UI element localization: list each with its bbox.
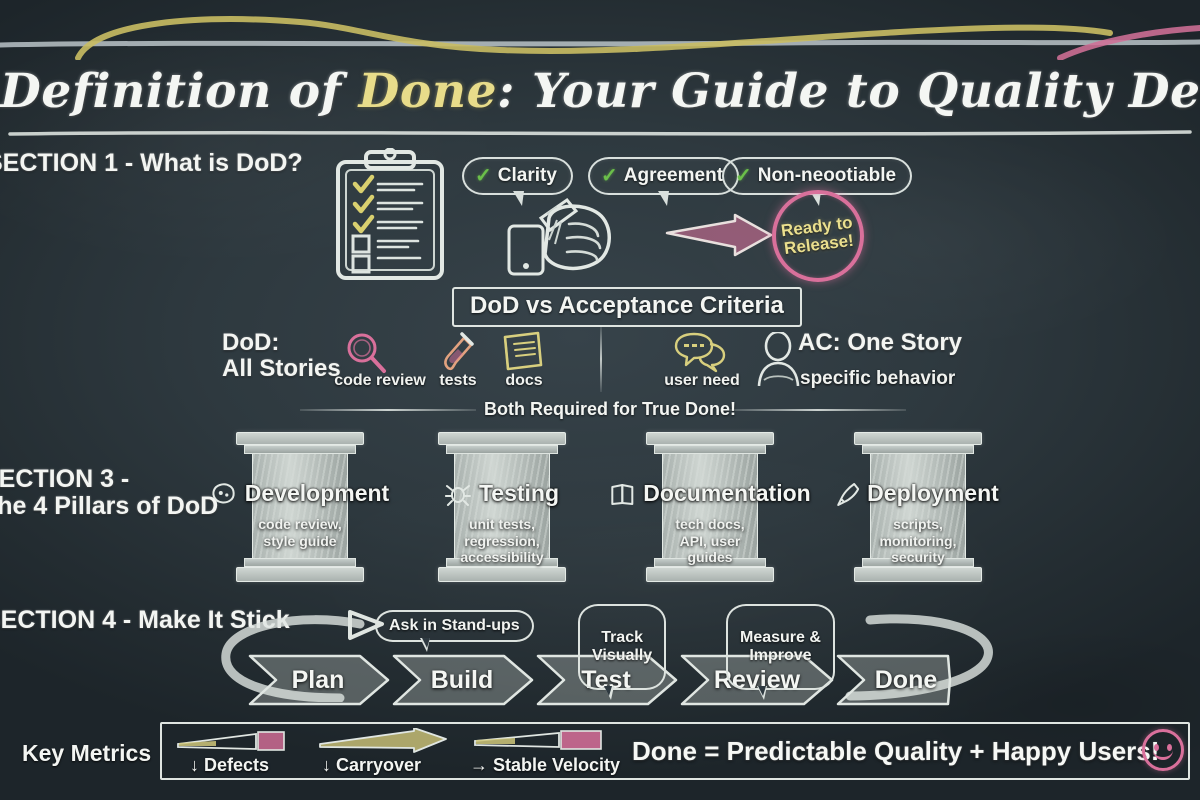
- pillar-development-name-row: Development: [211, 480, 389, 507]
- person-icon: [756, 332, 802, 386]
- test-tube-caption: tests: [428, 372, 488, 390]
- pillar-testing-details: unit tests, regression, accessibility: [450, 516, 554, 566]
- badge-clarity[interactable]: ✓ Clarity: [462, 157, 573, 195]
- metric-defects-label: ↓ Defects: [190, 755, 269, 776]
- pillar-deployment[interactable]: Deployment scripts, monitoring, security: [854, 432, 982, 582]
- pink-right-arrow-icon: [665, 213, 775, 257]
- check-icon: ✓: [601, 163, 618, 188]
- speech-bubbles-icon: [672, 332, 728, 374]
- pillar-cap-bottom: [438, 567, 566, 582]
- badge-agreement-label: Agreement: [624, 165, 723, 187]
- badge-agreement[interactable]: ✓ Agreement: [588, 157, 739, 195]
- ac-specific-behavior-label: specific behavior: [800, 368, 955, 390]
- callout-ask-in-standups-text: Ask in Stand-ups: [389, 617, 520, 634]
- pillar-cap-bottom: [646, 567, 774, 582]
- comparison-divider: [600, 326, 602, 392]
- pillar-cap-bottom: [236, 567, 364, 582]
- arrow-tapered-icon: [318, 728, 448, 754]
- rocket-icon: [837, 482, 859, 506]
- key-metrics-label: Key Metrics: [22, 740, 151, 767]
- page-title: Definition of Done: Your Guide to Qualit…: [0, 64, 1200, 119]
- pillar-cap-top-inner: [446, 445, 558, 454]
- flow-step-plan[interactable]: Plan: [258, 652, 378, 708]
- callout-measure-improve[interactable]: Measure & Improve: [726, 604, 835, 690]
- callout-track-visually[interactable]: Track Visually: [578, 604, 666, 690]
- callout-measure-improve-text: Measure & Improve: [740, 629, 821, 664]
- smiley-face-icon: [1142, 729, 1184, 771]
- bug-icon: [445, 482, 471, 506]
- page-title-wrapper: Definition of Done: Your Guide to Qualit…: [0, 64, 1200, 119]
- badge-non-negotiable-label: Non-neootiable: [758, 165, 896, 187]
- comparison-title: DoD vs Acceptance Criteria: [452, 287, 802, 327]
- book-icon: [500, 331, 546, 373]
- top-decorative-swoosh: [0, 0, 1200, 60]
- pillar-documentation-name: Documentation: [643, 480, 810, 507]
- pillar-cap-top-inner: [862, 445, 974, 454]
- pillar-documentation-details: tech docs, API, user guides: [658, 516, 762, 566]
- clipboard-icon: [330, 148, 450, 282]
- fist-holding-pen-icon: [505, 190, 650, 282]
- both-required-rule-left: [300, 409, 476, 411]
- section3-heading-line1: SECTION 3 -: [0, 466, 218, 493]
- flow-step-build[interactable]: Build: [402, 652, 522, 708]
- user-need-caption: user need: [660, 372, 744, 390]
- book-caption: docs: [494, 372, 554, 390]
- dod-label-line1: DoD:: [222, 330, 341, 356]
- ready-to-release-text: Ready to Release!: [780, 214, 856, 259]
- wedge-decreasing-icon: [176, 730, 286, 752]
- pillar-testing[interactable]: Testing unit tests, regression, accessib…: [438, 432, 566, 582]
- pillar-cap-top: [646, 432, 774, 445]
- pillar-development-name: Development: [245, 480, 389, 507]
- pillar-development[interactable]: Development code review, style guide: [236, 432, 364, 582]
- pillar-documentation-name-row: Documentation: [609, 480, 810, 507]
- dod-all-stories-label: DoD: All Stories: [222, 330, 341, 383]
- metric-carryover-label: ↓ Carryover: [322, 755, 421, 776]
- page-title-accent: Done: [359, 64, 498, 119]
- magnifier-caption: code review: [332, 372, 428, 390]
- callout-ask-in-standups[interactable]: Ask in Stand-ups: [375, 610, 534, 642]
- section3-heading: SECTION 3 - The 4 Pillars of DoD: [0, 466, 218, 520]
- code-icon: [211, 482, 237, 506]
- pillar-cap-top-inner: [654, 445, 766, 454]
- test-tube-icon: [438, 330, 478, 374]
- magnifier-icon: [344, 332, 388, 374]
- callout-track-visually-text: Track Visually: [592, 629, 652, 664]
- book-open-icon: [609, 482, 635, 506]
- pillar-documentation[interactable]: Documentation tech docs, API, user guide…: [646, 432, 774, 582]
- both-required-rule-right: [730, 409, 906, 411]
- pillar-cap-top: [854, 432, 982, 445]
- pillar-deployment-name-row: Deployment: [837, 480, 999, 507]
- pillar-cap-top-inner: [244, 445, 356, 454]
- dod-label-line2: All Stories: [222, 356, 341, 382]
- title-underline: [8, 128, 1192, 138]
- page-title-part1: Definition of: [0, 64, 359, 119]
- pillar-cap-bottom: [854, 567, 982, 582]
- footer-tagline: Done = Predictable Quality + Happy Users…: [632, 736, 1159, 767]
- page-title-part2: : Your Guide to Quality Delivery: [497, 64, 1200, 119]
- check-icon: ✓: [475, 163, 492, 188]
- pillar-cap-top: [438, 432, 566, 445]
- section1-heading: SECTION 1 - What is DoD?: [0, 150, 303, 177]
- pillar-deployment-name: Deployment: [867, 480, 999, 507]
- badge-clarity-label: Clarity: [498, 165, 557, 187]
- flow-step-done[interactable]: Done: [846, 652, 966, 708]
- ac-one-story-label: AC: One Story: [798, 330, 962, 356]
- ready-to-release-stamp: Ready to Release!: [772, 190, 864, 282]
- check-icon: ✓: [735, 163, 752, 188]
- metric-stable-velocity-label: → Stable Velocity: [470, 755, 620, 776]
- pillar-testing-name-row: Testing: [445, 480, 559, 507]
- section3-heading-line2: The 4 Pillars of DoD: [0, 493, 218, 520]
- wedge-flat-icon: [473, 728, 603, 752]
- both-required-text: Both Required for True Done!: [484, 399, 736, 420]
- pillar-cap-bottom-inner: [244, 558, 356, 567]
- pillar-development-details: code review, style guide: [248, 516, 352, 549]
- pillar-testing-name: Testing: [479, 480, 559, 507]
- pillar-cap-top: [236, 432, 364, 445]
- pillar-deployment-details: scripts, monitoring, security: [866, 516, 970, 566]
